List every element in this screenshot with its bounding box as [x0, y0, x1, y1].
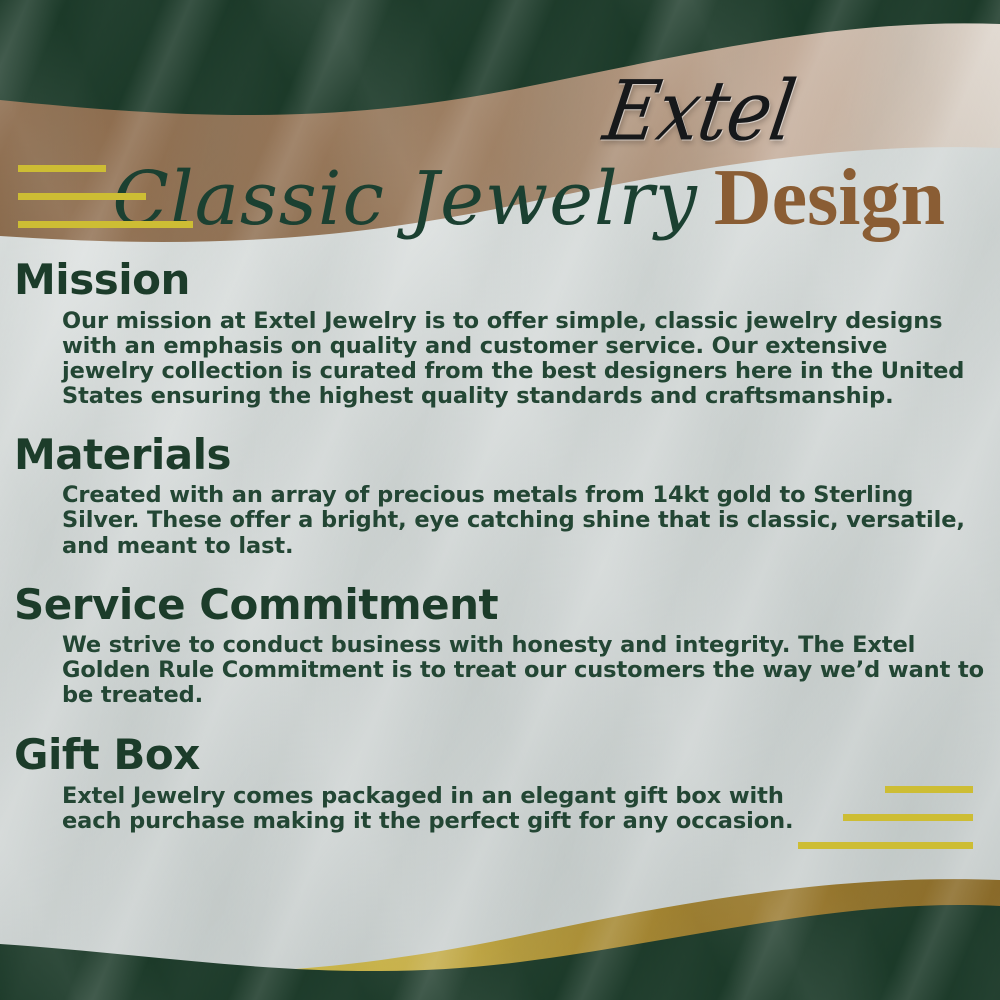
section-body: Our mission at Extel Jewelry is to offer… — [62, 309, 984, 409]
decor-bar — [798, 842, 973, 849]
section-heading: Gift Box — [14, 733, 984, 778]
sections-list: Mission Our mission at Extel Jewelry is … — [14, 258, 984, 834]
section-mission: Mission Our mission at Extel Jewelry is … — [14, 258, 984, 409]
decor-bar — [18, 193, 146, 200]
section-body: We strive to conduct business with hones… — [62, 633, 984, 708]
decor-bars-top-left — [18, 165, 193, 228]
section-body: Created with an array of precious metals… — [62, 483, 984, 558]
title-accent: Design — [714, 154, 945, 242]
decor-bar — [18, 221, 193, 228]
section-heading: Service Commitment — [14, 583, 984, 628]
section-body: Extel Jewelry comes packaged in an elega… — [62, 784, 984, 834]
section-materials: Materials Created with an array of preci… — [14, 433, 984, 559]
section-heading: Mission — [14, 258, 984, 303]
section-service-commitment: Service Commitment We strive to conduct … — [14, 583, 984, 709]
title-main: Classic Jewelry — [112, 156, 697, 242]
poster-canvas: Extel Classic JewelryDesign Mission Our … — [0, 0, 1000, 1000]
decor-bar — [18, 165, 106, 172]
brand-logo: Extel — [599, 70, 942, 153]
section-heading: Materials — [14, 433, 984, 478]
section-gift-box: Gift Box Extel Jewelry comes packaged in… — [14, 733, 984, 834]
